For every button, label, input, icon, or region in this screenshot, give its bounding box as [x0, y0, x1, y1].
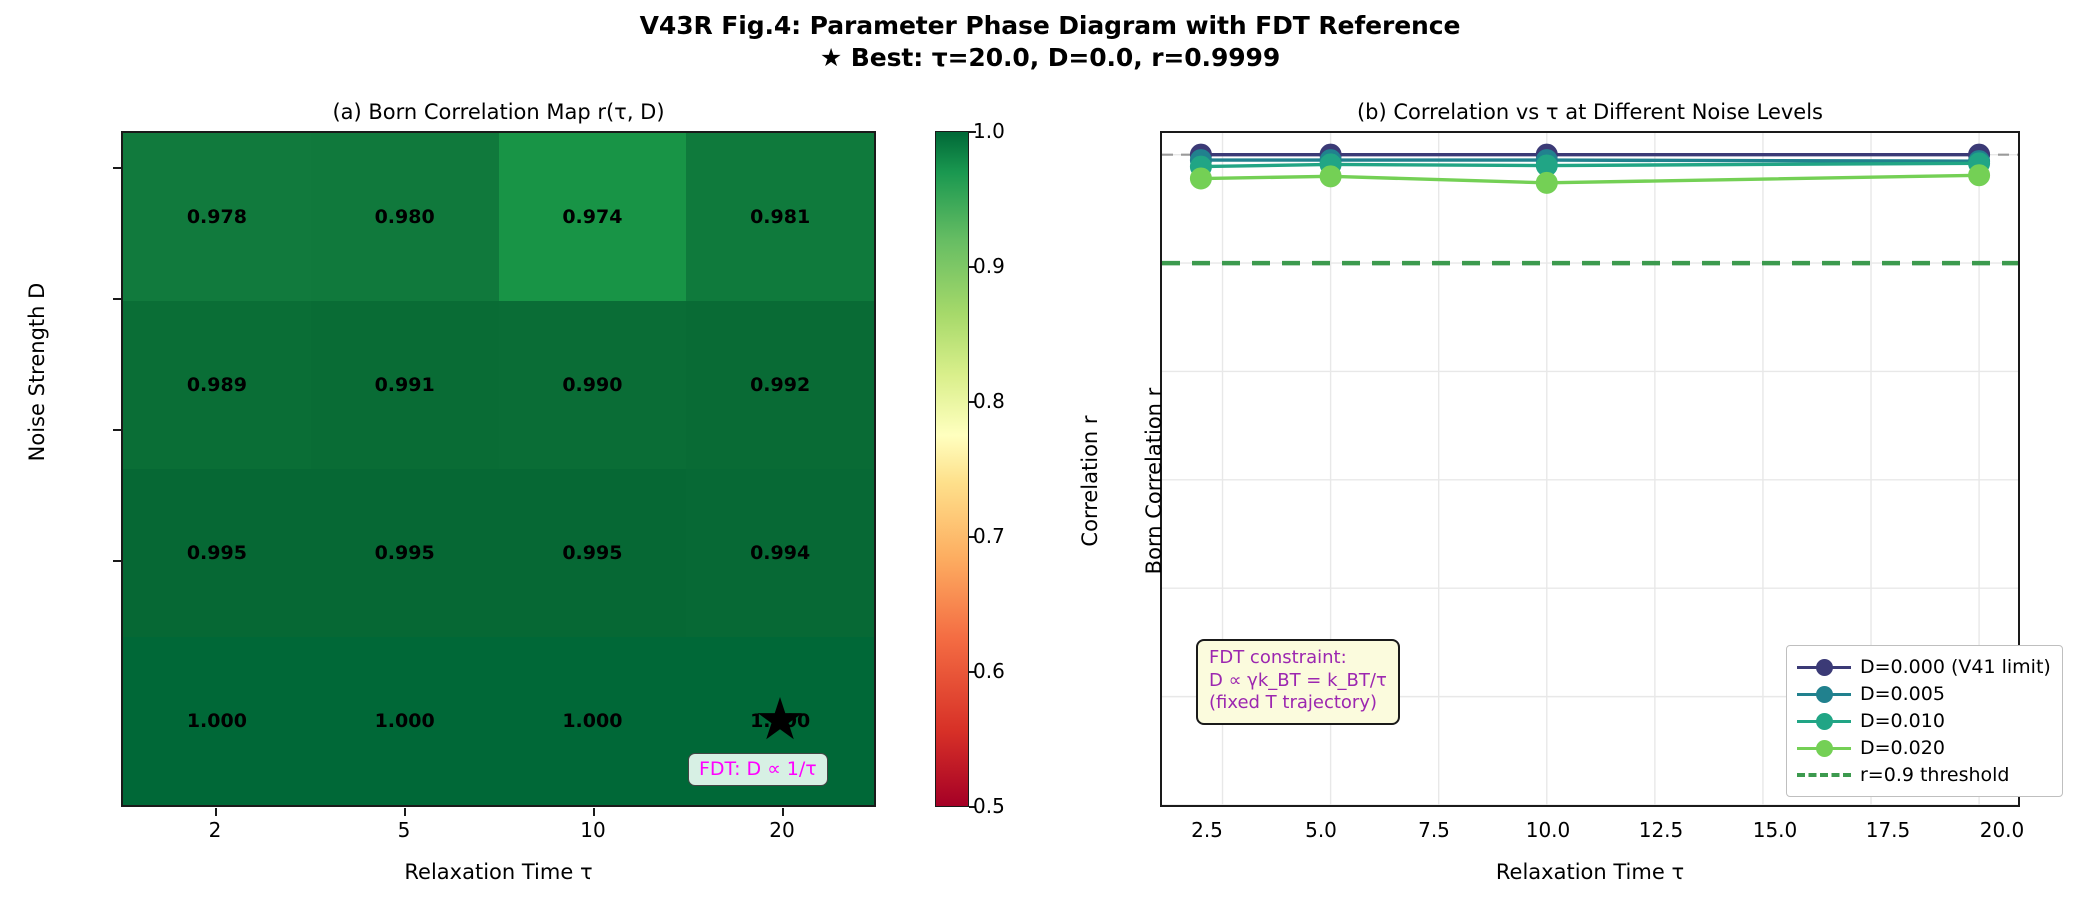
- colorbar-tick-4: 0.6: [973, 659, 1005, 683]
- panel-b-xtick-3: 10.0: [1526, 818, 1571, 842]
- panel-a-xtick-2: 10: [580, 818, 605, 842]
- heatmap-cell: 0.994: [686, 469, 874, 637]
- heatmap-cell: 0.980: [311, 133, 499, 301]
- suptitle-line-2: ★ Best: τ=20.0, D=0.0, r=0.9999: [0, 42, 2100, 74]
- heatmap-cell-value: 0.980: [375, 206, 435, 228]
- heatmap-cell: 0.991: [311, 301, 499, 469]
- heatmap-cell-value: 0.995: [187, 542, 247, 564]
- heatmap-cell-value: 0.989: [187, 374, 247, 396]
- heatmap-cell: 0.995: [311, 469, 499, 637]
- panel-a-ytickmark-2: [113, 429, 121, 431]
- fdt-constraint-line-3: (fixed T trajectory): [1209, 692, 1387, 715]
- heatmap-cell: 0.974: [499, 133, 687, 301]
- colorbar-tick-0: 1.0: [973, 119, 1005, 143]
- heatmap-cell: 1.000: [499, 637, 687, 805]
- panel-b-data-point[interactable]: [1969, 165, 1990, 186]
- legend-item[interactable]: D=0.010: [1797, 707, 2051, 734]
- legend-marker-icon: [1816, 686, 1833, 703]
- colorbar-tick-2: 0.8: [973, 389, 1005, 413]
- panel-b-xtick-5: 15.0: [1753, 818, 1798, 842]
- colorbar-label: Correlation r: [1078, 351, 1102, 611]
- legend-item-label: D=0.020: [1860, 737, 1945, 759]
- heatmap-cell-value: 0.981: [750, 206, 810, 228]
- legend-marker-icon: [1816, 740, 1833, 757]
- fdt-constraint-line-1: FDT constraint:: [1209, 647, 1387, 670]
- legend-swatch-icon: [1797, 657, 1851, 677]
- heatmap-cell: 1.000: [123, 637, 311, 805]
- panel-a-ytickmark-1: [113, 298, 121, 300]
- heatmap-cell: 0.995: [123, 469, 311, 637]
- heatmap-cell-value: 0.995: [375, 542, 435, 564]
- legend-item-label: D=0.010: [1860, 710, 1945, 732]
- heatmap-cell-value: 0.995: [562, 542, 622, 564]
- panel-b-xtick-6: 17.5: [1866, 818, 1911, 842]
- heatmap-cell-value: 0.991: [375, 374, 435, 396]
- panel-a-title: (a) Born Correlation Map r(τ, D): [121, 100, 876, 124]
- heatmap-cell-value: 1.000: [187, 710, 247, 732]
- panel-b-xtick-4: 12.5: [1639, 818, 1684, 842]
- heatmap-cell-value: 0.990: [562, 374, 622, 396]
- panel-b-ylabel: Born Correlation r: [1142, 331, 1166, 631]
- legend-swatch-icon: [1797, 684, 1851, 704]
- colorbar-tick-1: 0.9: [973, 254, 1005, 278]
- heatmap-cell: 1.000: [311, 637, 499, 805]
- panel-b-legend[interactable]: D=0.000 (V41 limit)D=0.005D=0.010D=0.020…: [1786, 645, 2063, 797]
- legend-item[interactable]: D=0.005: [1797, 680, 2051, 707]
- legend-marker-icon: [1816, 713, 1833, 730]
- colorbar-gradient: [935, 131, 969, 807]
- panel-a-heatmap-axes: 0.9780.9800.9740.9810.9890.9910.9900.992…: [121, 131, 876, 807]
- panel-a-xtick-3: 20: [769, 818, 794, 842]
- panel-b-data-point[interactable]: [1320, 166, 1341, 187]
- legend-item-label: r=0.9 threshold: [1860, 764, 2009, 786]
- panel-a-xtickmark-1: [404, 808, 406, 816]
- panel-a-xtick-0: 2: [209, 818, 222, 842]
- legend-swatch-icon: [1797, 711, 1851, 731]
- panel-b-data-point[interactable]: [1190, 168, 1211, 189]
- figure-canvas: V43R Fig.4: Parameter Phase Diagram with…: [0, 0, 2100, 900]
- heatmap-cell: 0.995: [499, 469, 687, 637]
- legend-marker-icon: [1816, 659, 1833, 676]
- heatmap-cell-value: 0.994: [750, 542, 810, 564]
- colorbar-tick-5: 0.5: [973, 794, 1005, 818]
- legend-item-label: D=0.000 (V41 limit): [1860, 656, 2051, 678]
- suptitle-line-1: V43R Fig.4: Parameter Phase Diagram with…: [640, 11, 1461, 40]
- panel-a-xtick-1: 5: [398, 818, 411, 842]
- fdt-inline-annotation: FDT: D ∝ 1/τ: [688, 753, 828, 786]
- panel-b-title: (b) Correlation vs τ at Different Noise …: [1160, 100, 2020, 124]
- legend-item[interactable]: r=0.9 threshold: [1797, 761, 2051, 788]
- panel-a-ytickmark-3: [113, 560, 121, 562]
- figure-suptitle: V43R Fig.4: Parameter Phase Diagram with…: [0, 10, 2100, 74]
- legend-item[interactable]: D=0.000 (V41 limit): [1797, 653, 2051, 680]
- legend-swatch-icon: [1797, 738, 1851, 758]
- colorbar-tick-3: 0.7: [973, 524, 1005, 548]
- heatmap-cell: 0.989: [123, 301, 311, 469]
- panel-a-xlabel: Relaxation Time τ: [121, 860, 876, 884]
- panel-b-data-point[interactable]: [1536, 172, 1557, 193]
- heatmap-grid: 0.9780.9800.9740.9810.9890.9910.9900.992…: [123, 133, 874, 805]
- legend-item[interactable]: D=0.020: [1797, 734, 2051, 761]
- panel-b-xtick-0: 2.5: [1191, 818, 1223, 842]
- panel-b-series-line: [1201, 175, 1979, 183]
- heatmap-cell-value: 0.992: [750, 374, 810, 396]
- heatmap-cell-value: 0.978: [187, 206, 247, 228]
- heatmap-cell: 0.990: [499, 301, 687, 469]
- panel-b-series-line: [1201, 160, 1979, 161]
- panel-b-xlabel: Relaxation Time τ: [1160, 860, 2020, 884]
- panel-b-xtick-2: 7.5: [1418, 818, 1450, 842]
- heatmap-cell-value: 0.974: [562, 206, 622, 228]
- panel-a-ytickmark-0: [113, 167, 121, 169]
- panel-a-ylabel: Noise Strength D: [25, 242, 49, 502]
- legend-item-label: D=0.005: [1860, 683, 1945, 705]
- legend-swatch-icon: [1797, 765, 1851, 785]
- heatmap-cell-value: 1.000: [562, 710, 622, 732]
- panel-a-xtickmark-2: [593, 808, 595, 816]
- heatmap-cell: 0.992: [686, 301, 874, 469]
- legend-line-icon: [1797, 773, 1851, 777]
- fdt-constraint-line-2: D ∝ γk_BT = k_BT/τ: [1209, 670, 1387, 693]
- heatmap-cell: 0.978: [123, 133, 311, 301]
- panel-b-series-line: [1201, 163, 1979, 166]
- panel-b-xtick-7: 20.0: [1980, 818, 2025, 842]
- heatmap-cell: 0.981: [686, 133, 874, 301]
- heatmap-cell-value: 1.000: [750, 710, 810, 732]
- fdt-constraint-annotation: FDT constraint: D ∝ γk_BT = k_BT/τ (fixe…: [1196, 639, 1400, 725]
- panel-b-xtick-1: 5.0: [1305, 818, 1337, 842]
- panel-a-xtickmark-0: [215, 808, 217, 816]
- heatmap-cell-value: 1.000: [375, 710, 435, 732]
- panel-a-xtickmark-3: [782, 808, 784, 816]
